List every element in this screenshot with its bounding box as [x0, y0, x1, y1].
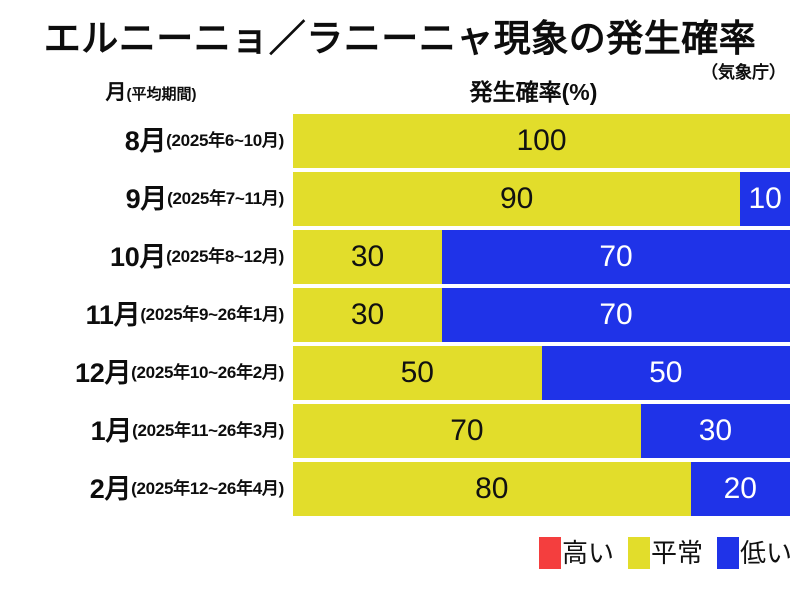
page-title: エルニーニョ／ラニーニャ現象の発生確率	[0, 17, 800, 61]
row-label: 2月(2025年12~26年4月)	[0, 462, 288, 516]
bar-segment-low: 70	[442, 230, 790, 284]
chart-row: 8月(2025年6~10月)100	[0, 114, 800, 168]
bar-segment-value: 50	[649, 358, 682, 388]
bar-segment-value: 30	[699, 416, 732, 446]
bar-segment-value: 50	[401, 358, 434, 388]
bar-segment-value: 10	[748, 184, 781, 214]
row-label: 10月(2025年8~12月)	[0, 230, 288, 284]
legend-swatch-low	[717, 537, 739, 569]
legend-label-low: 低い	[740, 540, 792, 566]
bar-segment-value: 30	[351, 300, 384, 330]
bar-segment-value: 30	[351, 242, 384, 272]
stacked-bar: 5050	[293, 346, 790, 400]
legend-swatch-high	[539, 537, 561, 569]
column-header-month: 月(平均期間)	[6, 80, 296, 108]
bar-segment-normal: 30	[293, 288, 442, 342]
bar-segment-normal: 30	[293, 230, 442, 284]
legend-item-high: 高い	[539, 537, 614, 569]
bar-segment-low: 10	[740, 172, 790, 226]
bar-segment-value: 90	[500, 184, 533, 214]
bar-segment-value: 70	[450, 416, 483, 446]
row-label: 8月(2025年6~10月)	[0, 114, 288, 168]
bar-segment-normal: 100	[293, 114, 790, 168]
bar-segment-low: 50	[542, 346, 791, 400]
stacked-bar: 100	[293, 114, 790, 168]
chart-row: 9月(2025年7~11月)9010	[0, 172, 800, 226]
row-label: 1月(2025年11~26年3月)	[0, 404, 288, 458]
bar-segment-normal: 90	[293, 172, 740, 226]
row-label-month: 9月	[126, 186, 167, 213]
bar-segment-value: 80	[475, 474, 508, 504]
bar-segment-value: 20	[724, 474, 757, 504]
row-label-month: 12月	[75, 360, 131, 387]
bar-segment-low: 20	[691, 462, 790, 516]
row-label-month: 11月	[86, 302, 141, 329]
row-label: 12月(2025年10~26年2月)	[0, 346, 288, 400]
bar-segment-normal: 50	[293, 346, 542, 400]
bar-segment-value: 70	[599, 242, 632, 272]
row-label-period: (2025年10~26年2月)	[131, 364, 284, 382]
chart-page: エルニーニョ／ラニーニャ現象の発生確率 （気象庁） 月(平均期間) 発生確率(%…	[0, 0, 800, 600]
row-label-period: (2025年12~26年4月)	[131, 480, 284, 498]
legend-label-normal: 平常	[651, 540, 703, 566]
stacked-bar: 7030	[293, 404, 790, 458]
row-label-month: 10月	[110, 244, 166, 271]
row-label-month: 8月	[125, 128, 166, 155]
row-label-period: (2025年7~11月)	[167, 190, 284, 208]
row-label-month: 2月	[90, 476, 131, 503]
bar-segment-low: 30	[641, 404, 790, 458]
bar-segment-low: 70	[442, 288, 790, 342]
legend-item-normal: 平常	[628, 537, 703, 569]
row-label-period: (2025年6~10月)	[166, 132, 284, 150]
chart-row: 11月(2025年9~26年1月)3070	[0, 288, 800, 342]
row-label-period: (2025年8~12月)	[166, 248, 284, 266]
stacked-bar: 8020	[293, 462, 790, 516]
bar-segment-value: 70	[599, 300, 632, 330]
row-label: 11月(2025年9~26年1月)	[0, 288, 288, 342]
legend-item-low: 低い	[717, 537, 792, 569]
chart-row: 2月(2025年12~26年4月)8020	[0, 462, 800, 516]
chart-legend: 高い平常低い	[500, 533, 792, 573]
bar-segment-normal: 70	[293, 404, 641, 458]
row-label-period: (2025年9~26年1月)	[140, 306, 284, 324]
stacked-bar: 9010	[293, 172, 790, 226]
row-label-period: (2025年11~26年3月)	[132, 422, 284, 440]
row-label-month: 1月	[91, 418, 132, 445]
chart-row: 12月(2025年10~26年2月)5050	[0, 346, 800, 400]
chart-row: 1月(2025年11~26年3月)7030	[0, 404, 800, 458]
legend-swatch-normal	[628, 537, 650, 569]
bar-segment-normal: 80	[293, 462, 691, 516]
row-label: 9月(2025年7~11月)	[0, 172, 288, 226]
stacked-bar: 3070	[293, 230, 790, 284]
legend-label-high: 高い	[562, 540, 614, 566]
column-header-month-sub: (平均期間)	[127, 86, 197, 103]
column-header-month-main: 月	[106, 81, 127, 104]
column-header-probability: 発生確率(%)	[285, 78, 782, 106]
bar-segment-value: 100	[516, 126, 566, 156]
chart-row: 10月(2025年8~12月)3070	[0, 230, 800, 284]
stacked-bar: 3070	[293, 288, 790, 342]
